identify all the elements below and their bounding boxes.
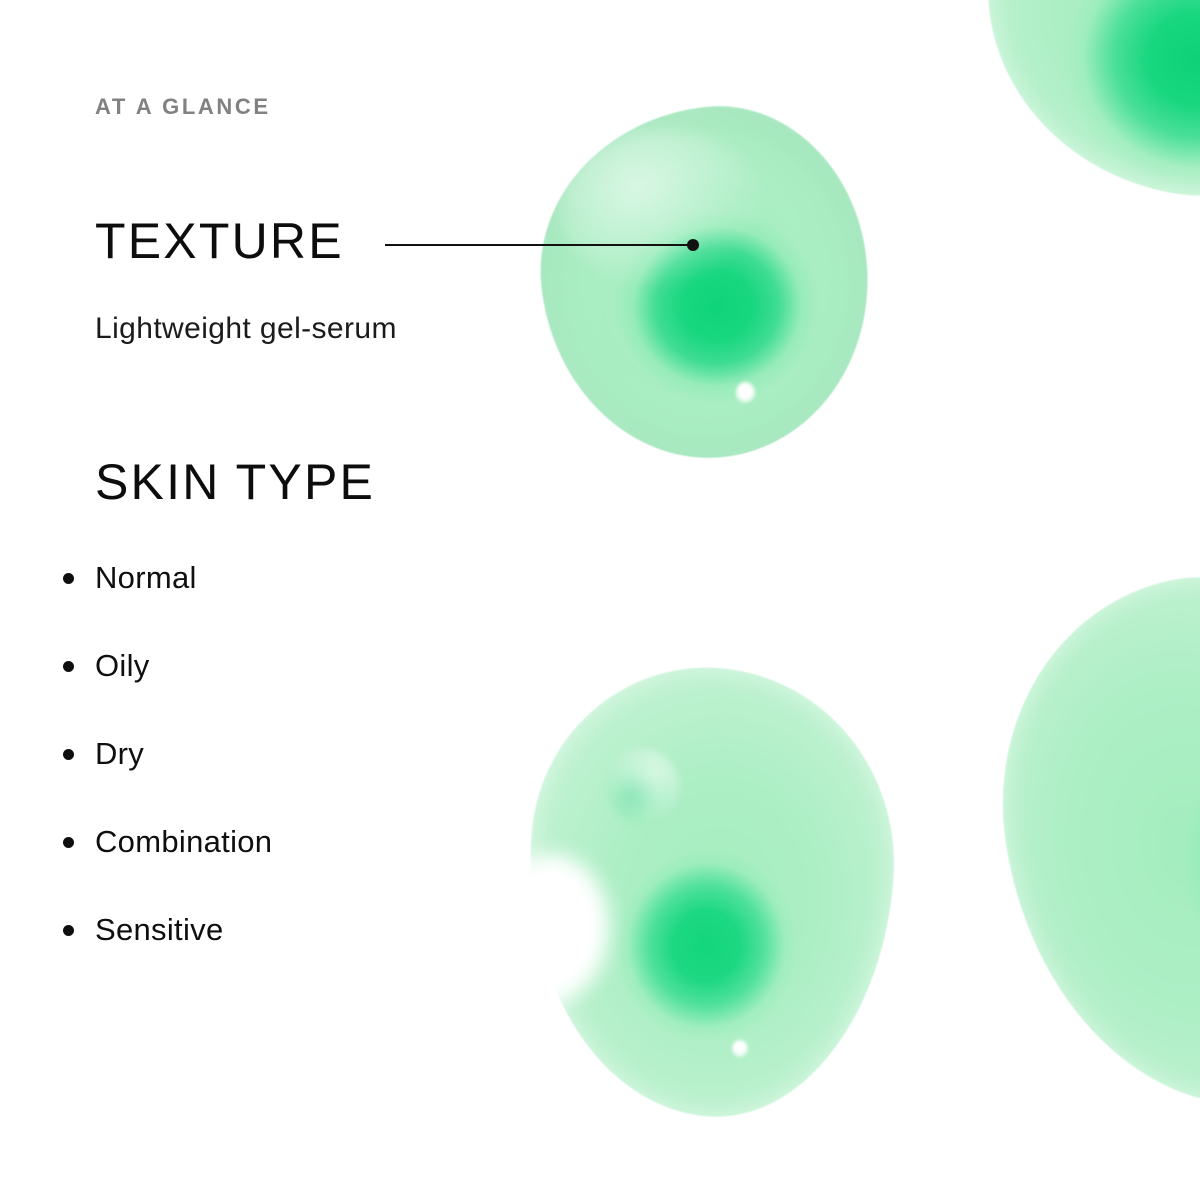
list-item-label: Normal: [95, 560, 197, 595]
skin-type-heading: SKIN TYPE: [95, 457, 375, 507]
list-item: Combination: [60, 824, 272, 912]
eyebrow-label: AT A GLANCE: [95, 94, 271, 120]
product-at-a-glance-card: AT A GLANCE TEXTURE Lightweight gel-seru…: [0, 0, 1200, 1200]
list-item: Oily: [60, 648, 272, 736]
bullet-icon: [63, 837, 74, 848]
list-item: Sensitive: [60, 912, 272, 1000]
texture-description: Lightweight gel-serum: [95, 312, 397, 346]
content-layer: AT A GLANCE TEXTURE Lightweight gel-seru…: [0, 0, 1200, 1200]
list-item-label: Combination: [95, 824, 272, 859]
texture-leader-line: [385, 244, 695, 246]
texture-leader-dot: [687, 239, 699, 251]
list-item: Normal: [60, 560, 272, 648]
bullet-icon: [63, 749, 74, 760]
bullet-icon: [63, 573, 74, 584]
list-item: Dry: [60, 736, 272, 824]
list-item-label: Sensitive: [95, 912, 224, 947]
bullet-icon: [63, 661, 74, 672]
texture-heading: TEXTURE: [95, 216, 344, 266]
list-item-label: Dry: [95, 736, 144, 771]
list-item-label: Oily: [95, 648, 150, 683]
bullet-icon: [63, 925, 74, 936]
skin-type-list: Normal Oily Dry Combination Sensitive: [60, 560, 272, 1000]
